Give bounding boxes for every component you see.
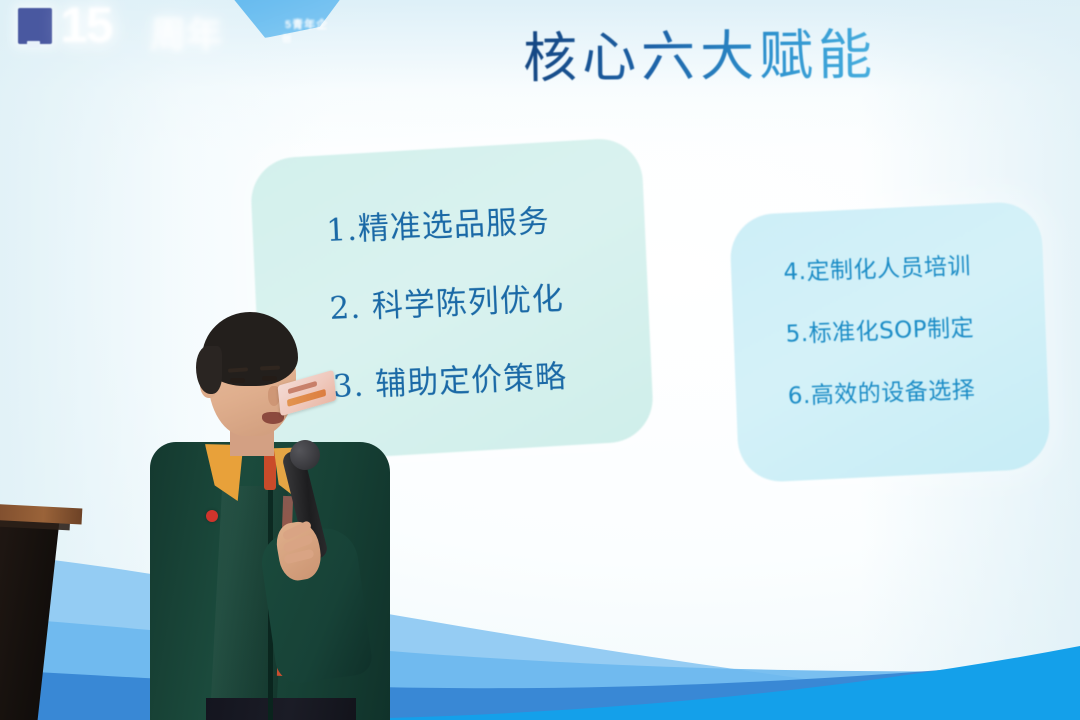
presentation-photo: 15 周年 5青年企 创 核心六大赋能 1.精准选品服务 2. 科学陈列优化 3… <box>0 0 1080 720</box>
event-banner: 15 周年 <box>0 0 420 62</box>
anniversary-number: 15 <box>60 0 112 54</box>
speaker-figure <box>150 300 420 720</box>
speaker-eye-right <box>262 376 277 381</box>
list-item: 6.高效的设备选择 <box>787 367 1058 410</box>
zipper-pull <box>264 450 276 490</box>
anniversary-word: 周年 <box>150 6 222 58</box>
ribbon-text-line2: 创 <box>282 32 292 45</box>
lapel-badge-icon <box>206 510 218 522</box>
speaker-eye-left <box>230 378 245 383</box>
brand-logo-icon <box>18 8 52 44</box>
slide-title: 核心六大赋能 <box>523 10 878 93</box>
list-item: 5.标准化SOP制定 <box>785 305 1056 348</box>
speaker-hair <box>202 312 298 386</box>
speaker-trousers <box>206 698 356 720</box>
right-card-list: 4.定制化人员培训 5.标准化SOP制定 6.高效的设备选择 <box>783 243 1059 438</box>
ribbon-text-line1: 5青年企 <box>285 16 328 32</box>
